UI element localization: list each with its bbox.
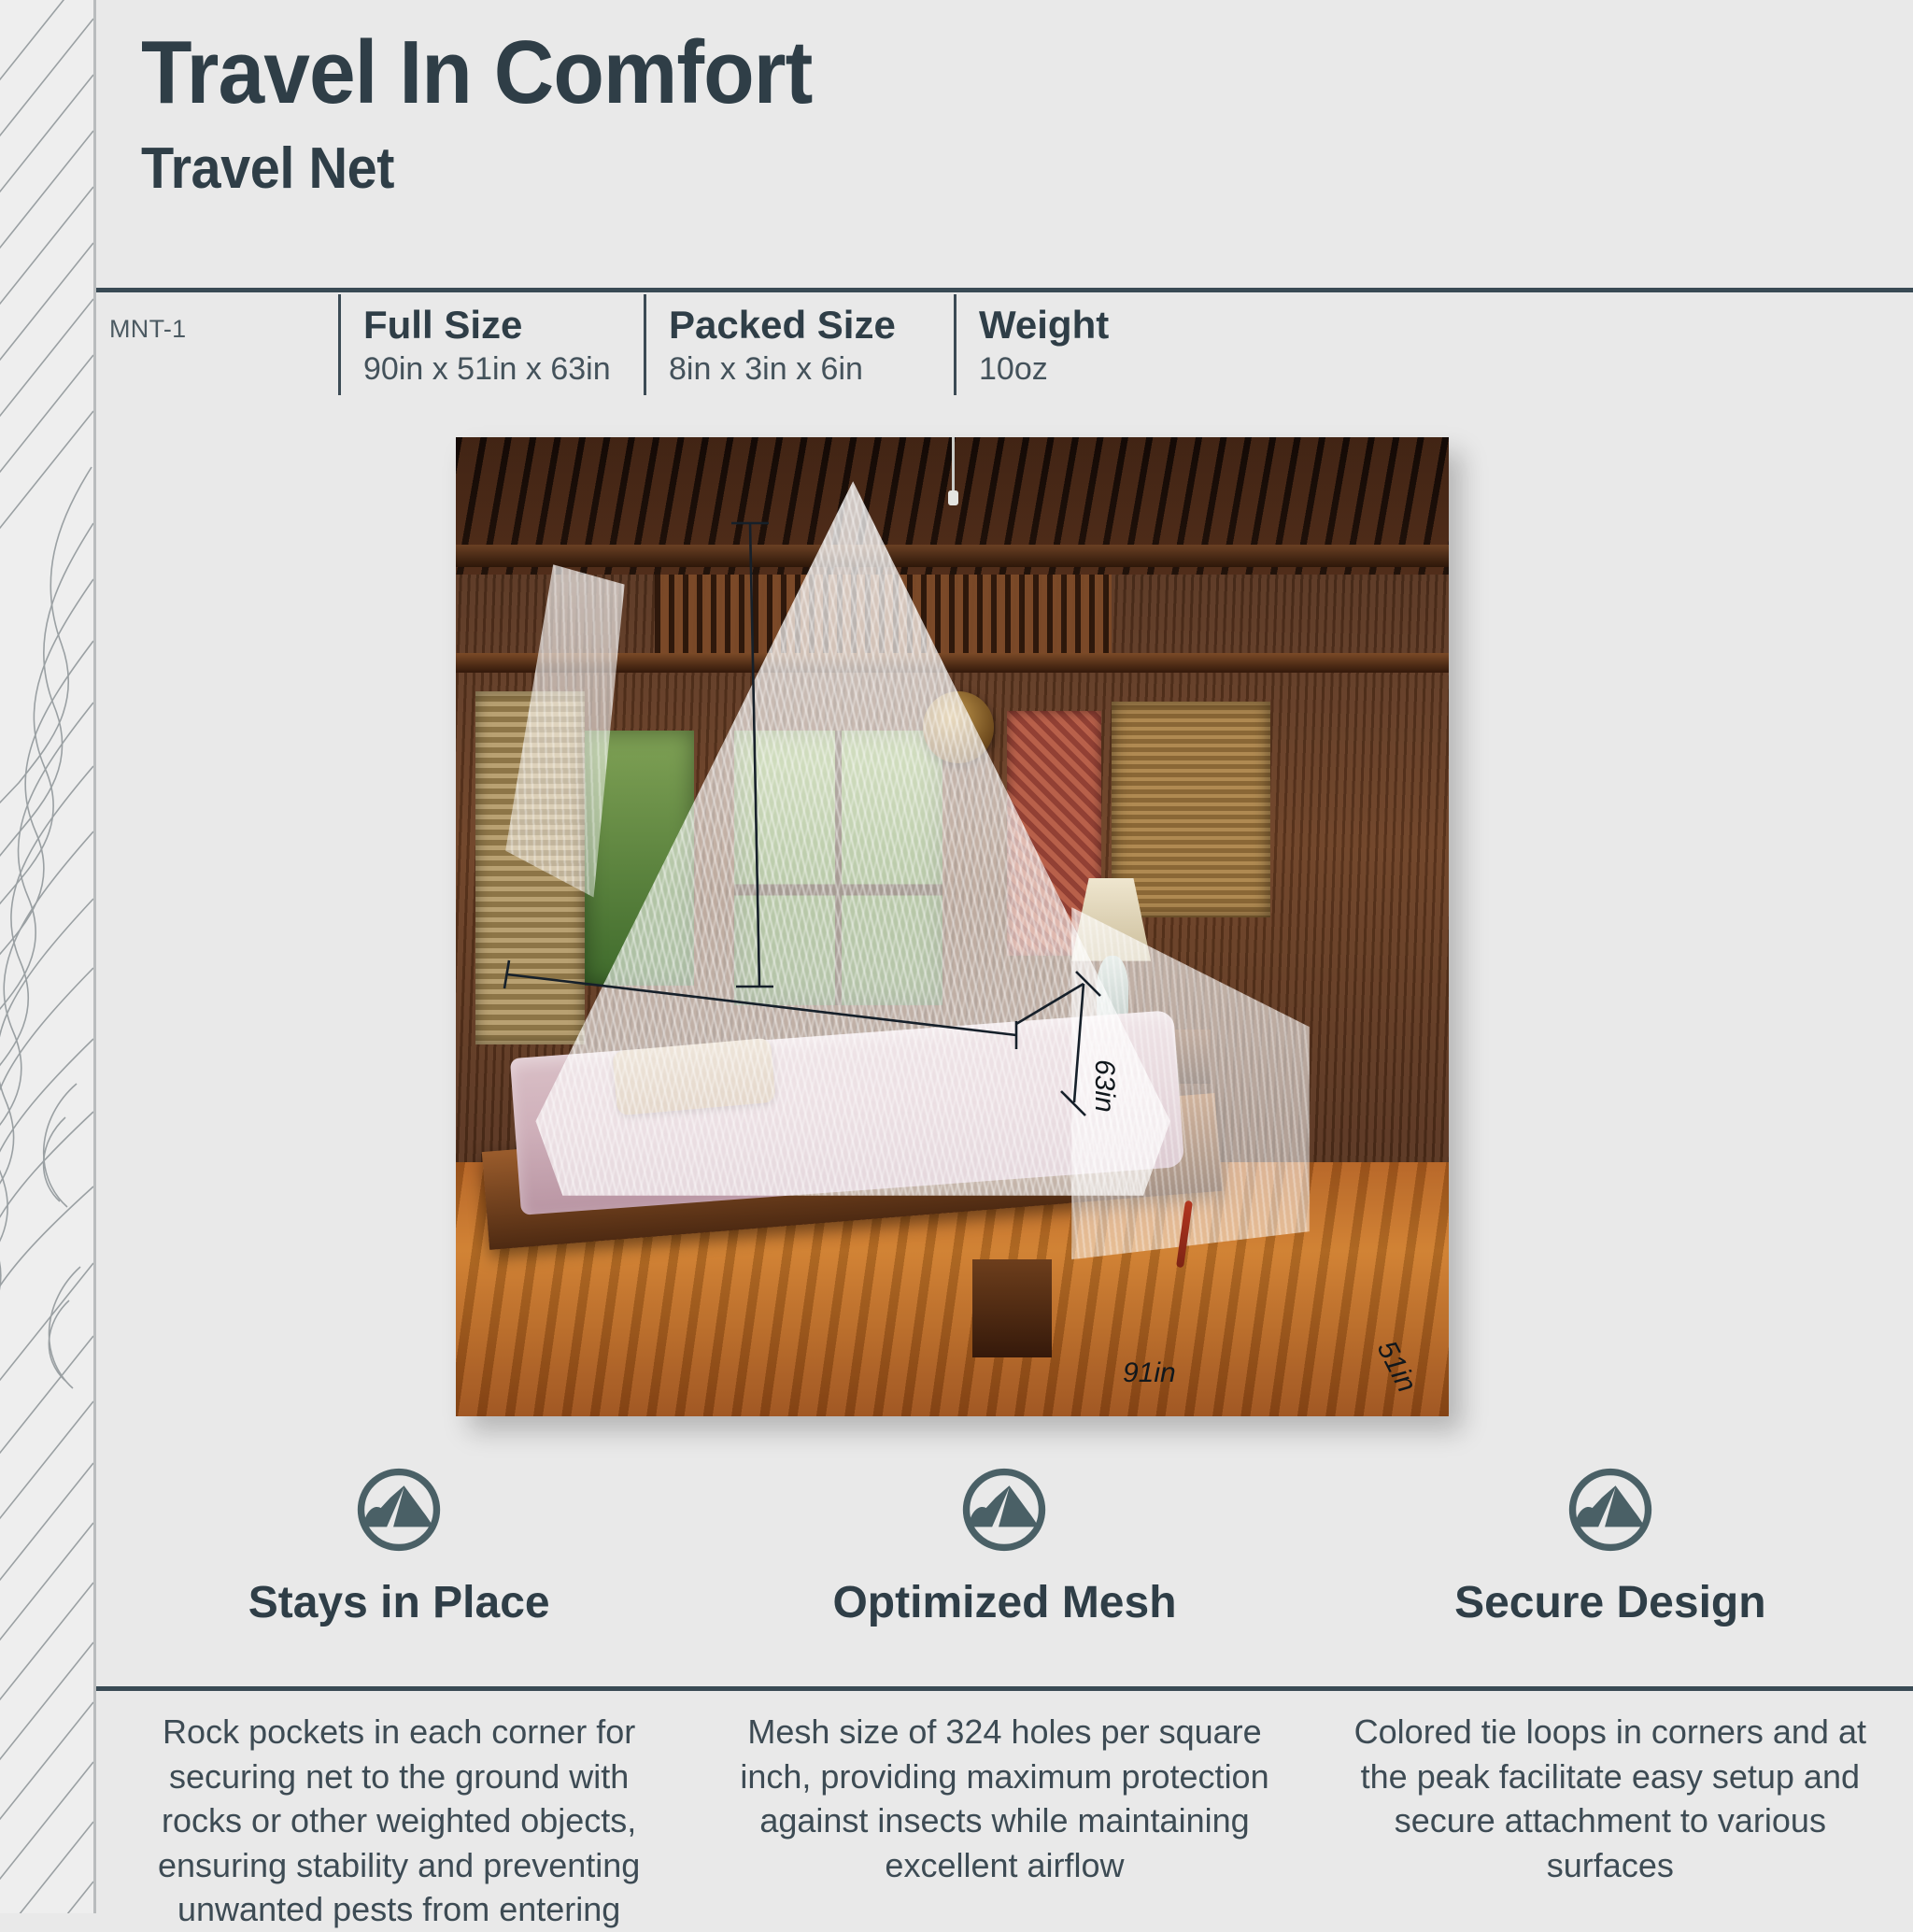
spec-weight: Weight 10oz — [956, 292, 1287, 390]
spec-full-size: Full Size 90in x 51in x 63in — [341, 292, 644, 390]
sku-label: MNT-1 — [96, 292, 338, 344]
dimension-annotations: 63in 91in 51in — [456, 437, 1449, 1416]
spec-weight-label: Weight — [979, 304, 1287, 346]
spec-packed-size-value: 8in x 3in x 6in — [669, 349, 954, 390]
feature-description: Colored tie loops in corners and at the … — [1308, 1710, 1913, 1932]
feature-descriptions-row: Rock pockets in each corner for securing… — [96, 1710, 1913, 1932]
spec-full-size-label: Full Size — [363, 304, 644, 346]
mountain-circle-icon — [1567, 1467, 1653, 1553]
feature-title: Secure Design — [1454, 1581, 1765, 1626]
topo-lines-svg — [0, 0, 93, 1913]
product-name: Travel Net — [141, 140, 394, 198]
dimension-height-label: 63in — [1088, 1059, 1120, 1113]
page-content: Travel In Comfort Travel Net MNT-1 Full … — [96, 0, 1913, 1913]
spec-weight-value: 10oz — [979, 349, 1287, 390]
dimension-length-label: 91in — [1123, 1357, 1176, 1389]
spec-full-size-value: 90in x 51in x 63in — [363, 349, 644, 390]
feature-title: Stays in Place — [248, 1581, 550, 1626]
dimension-lines-svg — [456, 437, 1449, 1416]
product-image: 63in 91in 51in — [456, 437, 1449, 1416]
feature-title: Optimized Mesh — [832, 1581, 1176, 1626]
mountain-circle-icon — [961, 1467, 1047, 1553]
mountain-circle-icon — [356, 1467, 442, 1553]
spec-packed-size: Packed Size 8in x 3in x 6in — [646, 292, 954, 390]
spec-packed-size-label: Packed Size — [669, 304, 954, 346]
header: Travel In Comfort Travel Net — [96, 0, 1913, 290]
features-divider-rule — [96, 1686, 1913, 1691]
page-title: Travel In Comfort — [141, 28, 812, 118]
topographic-sidebar-decoration — [0, 0, 93, 1913]
feature-description: Rock pockets in each corner for securing… — [96, 1710, 701, 1932]
spec-bar: MNT-1 Full Size 90in x 51in x 63in Packe… — [96, 292, 1913, 405]
feature-description: Mesh size of 324 holes per square inch, … — [701, 1710, 1307, 1932]
